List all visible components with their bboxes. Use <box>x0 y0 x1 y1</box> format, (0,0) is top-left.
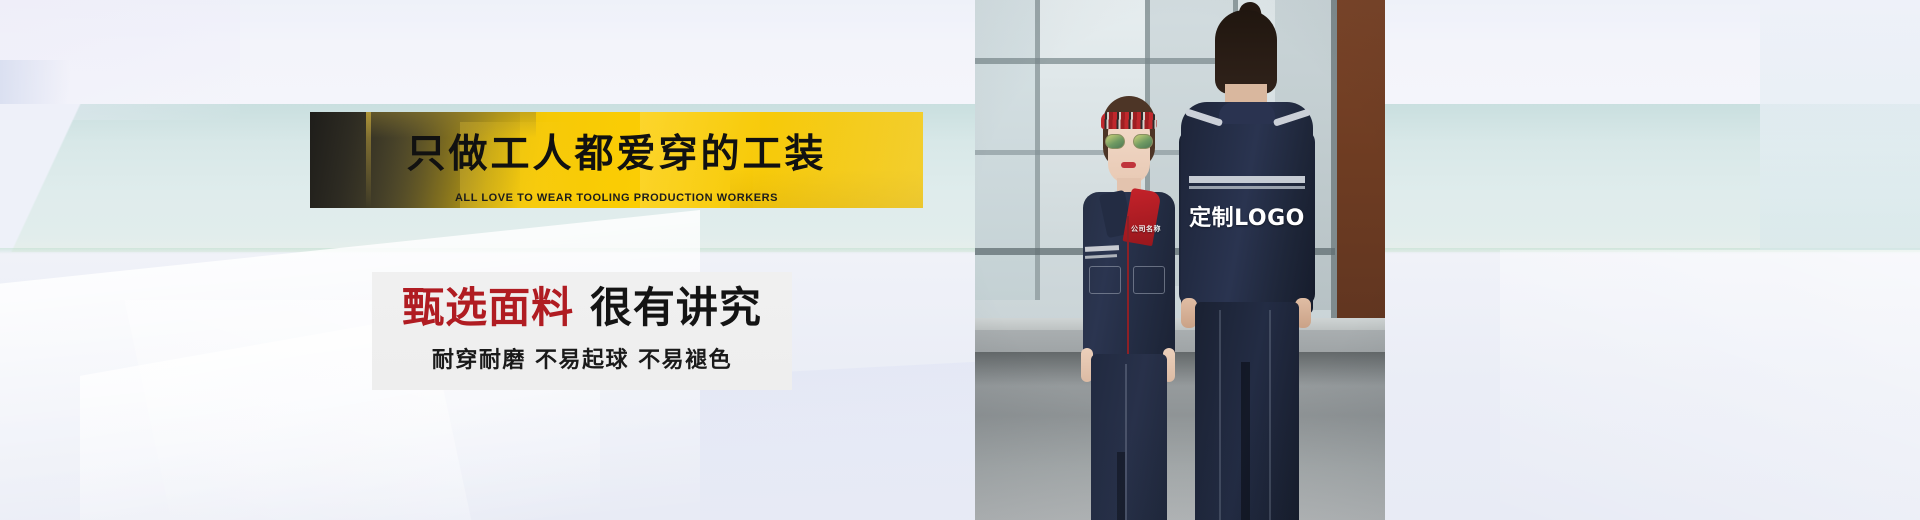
feature-headline-highlight: 甄选面料 <box>402 283 574 332</box>
background-teal-edge <box>0 248 1920 254</box>
gold-headline-banner: 只做工人都爱穿的工装 ALL LOVE TO WEAR TOOLING PROD… <box>310 112 923 208</box>
product-photo: 公司名称 定制LOGO <box>975 0 1385 520</box>
promo-banner-stage: 只做工人都爱穿的工装 ALL LOVE TO WEAR TOOLING PROD… <box>0 0 1920 520</box>
background-teal-band <box>0 104 1920 252</box>
feature-headline: 甄选面料 很有讲究 <box>372 282 792 334</box>
banner-title: 只做工人都爱穿的工装 <box>310 132 923 178</box>
background-top-band <box>0 0 1920 104</box>
banner-subtitle: ALL LOVE TO WEAR TOOLING PRODUCTION WORK… <box>310 192 923 205</box>
feature-headline-rest: 很有讲究 <box>590 283 762 332</box>
photo-vignette <box>975 0 1385 520</box>
feature-card: 甄选面料 很有讲究 耐穿耐磨 不易起球 不易褪色 <box>372 272 792 390</box>
feature-subline: 耐穿耐磨 不易起球 不易褪色 <box>372 346 792 376</box>
